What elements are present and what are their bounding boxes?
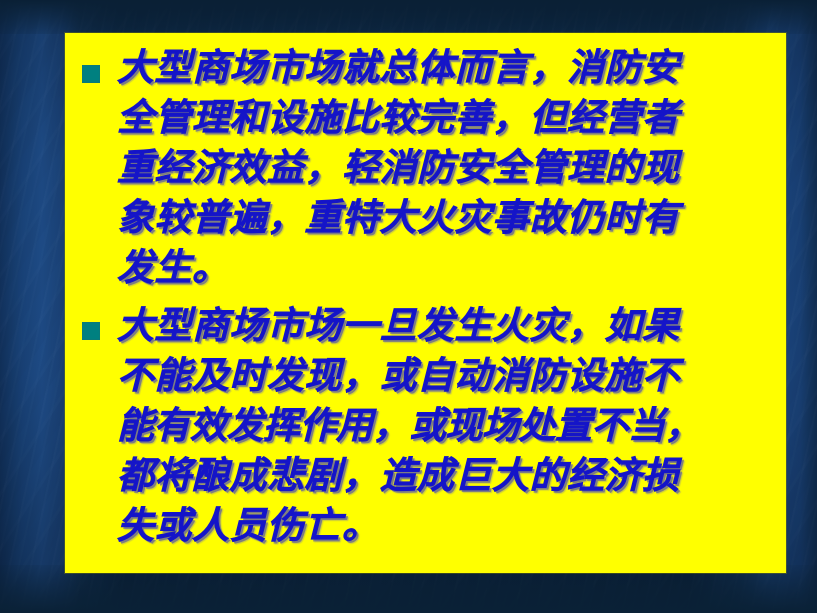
paragraph-1-line-4: 象较普遍，重特大火灾事故仍时有 [117,193,778,243]
square-bullet-icon [82,322,100,340]
paragraph-1-line-3: 重经济效益，轻消防安全管理的现 [117,143,778,193]
paragraph-2-line-5: 失或人员伤亡。 [117,501,778,551]
paragraph-2-line-2: 不能及时发现，或自动消防设施不 [117,351,778,401]
paragraph-1-line-2: 全管理和设施比较完善，但经营者 [117,93,778,143]
bullet-paragraph-1: 大型商场市场就总体而言，消防安 全管理和设施比较完善，但经营者 重经济效益，轻消… [73,43,778,293]
slide-background-top-shade [0,0,817,34]
bullet-paragraph-2: 大型商场市场一旦发生火灾，如果 不能及时发现，或自动消防设施不 能有效发挥作用，… [73,301,778,551]
square-bullet-icon [82,65,100,83]
yellow-content-box: 大型商场市场就总体而言，消防安 全管理和设施比较完善，但经营者 重经济效益，轻消… [65,33,786,573]
paragraph-1-lines: 大型商场市场就总体而言，消防安 全管理和设施比较完善，但经营者 重经济效益，轻消… [73,43,778,293]
paragraph-1-line-5: 发生。 [117,243,778,293]
paragraph-1-line-1: 大型商场市场就总体而言，消防安 [117,43,778,93]
paragraph-2-line-1: 大型商场市场一旦发生火灾，如果 [117,301,778,351]
paragraph-2-lines: 大型商场市场一旦发生火灾，如果 不能及时发现，或自动消防设施不 能有效发挥作用，… [73,301,778,551]
paragraph-2-line-3: 能有效发挥作用，或现场处置不当， [117,401,778,451]
presentation-slide: 大型商场市场就总体而言，消防安 全管理和设施比较完善，但经营者 重经济效益，轻消… [0,0,817,613]
paragraph-2-line-4: 都将酿成悲剧，造成巨大的经济损 [117,451,778,501]
